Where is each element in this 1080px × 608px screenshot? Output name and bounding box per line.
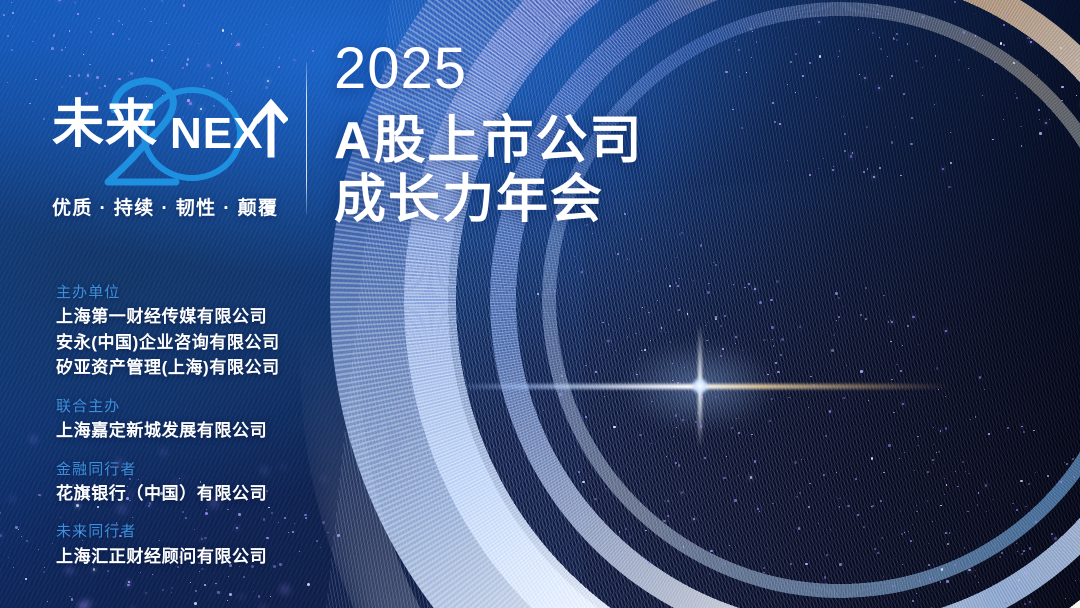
event-title-line-1: A股上市公司 <box>334 112 644 171</box>
event-year: 2025 <box>334 40 644 98</box>
supporter-group: 未来同行者上海汇正财经顾问有限公司 <box>56 520 280 569</box>
logo-tagline: 优质 · 持续 · 韧性 · 颠覆 <box>52 193 278 220</box>
supporter-name: 矽亚资产管理(上海)有限公司 <box>56 355 280 381</box>
flare-core <box>691 377 709 395</box>
svg-text:NEX: NEX <box>170 109 263 158</box>
supporters-list: 主办单位上海第一财经传媒有限公司安永(中国)企业咨询有限公司矽亚资产管理(上海)… <box>56 281 280 569</box>
event-title-line-2: 成长力年会 <box>334 171 644 230</box>
supporter-group: 联合主办上海嘉定新城发展有限公司 <box>56 395 280 444</box>
svg-text:未来: 未来 <box>52 96 158 154</box>
supporter-name: 安永(中国)企业咨询有限公司 <box>56 330 280 356</box>
supporter-name: 花旗银行（中国）有限公司 <box>56 481 280 507</box>
supporter-label: 联合主办 <box>56 395 280 418</box>
title-block: 2025 A股上市公司 成长力年会 <box>334 40 644 231</box>
event-poster: 未来 NEX 优质 · 持续 · 韧性 · 颠覆 2025 A股上市公司 成长力… <box>0 0 1080 608</box>
supporter-label: 主办单位 <box>56 281 280 304</box>
supporter-label: 金融同行者 <box>56 458 280 481</box>
supporter-group: 主办单位上海第一财经传媒有限公司安永(中国)企业咨询有限公司矽亚资产管理(上海)… <box>56 281 280 381</box>
supporter-group: 金融同行者花旗银行（中国）有限公司 <box>56 458 280 507</box>
supporter-label: 未来同行者 <box>56 520 280 543</box>
vertical-divider <box>306 62 307 214</box>
logo-wordmark-graphic: 未来 NEX <box>52 58 288 208</box>
supporter-name: 上海汇正财经顾问有限公司 <box>56 544 280 570</box>
supporter-name: 上海第一财经传媒有限公司 <box>56 304 280 330</box>
supporter-name: 上海嘉定新城发展有限公司 <box>56 418 280 444</box>
